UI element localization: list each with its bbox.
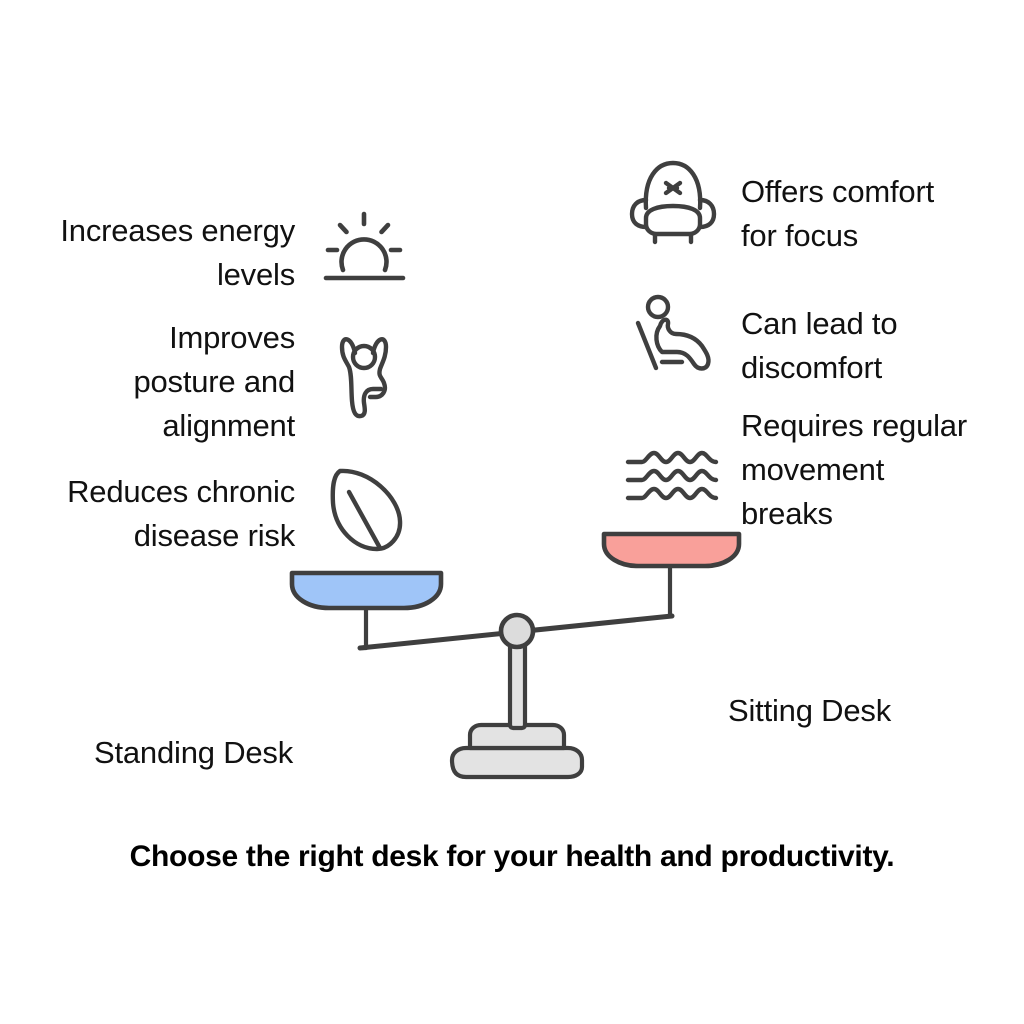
- sunrise-icon: [318, 206, 410, 290]
- scale-pivot: [501, 615, 533, 647]
- infographic-canvas: Increases energy levels Improves posture…: [0, 0, 1024, 1024]
- note-discomfort-line-2: discomfort: [741, 346, 1001, 390]
- stretching-person-icon: [336, 331, 402, 423]
- note-comfort-line-2: for focus: [741, 214, 1001, 258]
- scale-pan-sitting: [604, 534, 739, 566]
- armchair-icon: [627, 156, 719, 244]
- note-item-comfort: Offers comfort for focus: [741, 170, 1001, 258]
- benefit-posture-line-1: Improves: [60, 316, 295, 360]
- benefit-item-posture: Improves posture and alignment: [60, 316, 295, 448]
- waves-icon: [624, 448, 720, 510]
- scale-base-lower: [452, 748, 582, 777]
- note-breaks-line-1: Requires regular: [741, 404, 1016, 448]
- benefit-posture-line-2: posture and: [60, 360, 295, 404]
- label-sitting-desk: Sitting Desk: [728, 693, 891, 729]
- leaf-icon: [327, 459, 411, 559]
- benefit-posture-line-3: alignment: [60, 404, 295, 448]
- benefit-energy-line-2: levels: [10, 253, 295, 297]
- benefit-item-energy: Increases energy levels: [10, 209, 295, 297]
- benefit-energy-line-1: Increases energy: [10, 209, 295, 253]
- note-breaks-line-3: breaks: [741, 492, 1016, 536]
- scale-pan-standing: [292, 573, 441, 608]
- scale-base-upper: [470, 725, 564, 748]
- note-discomfort-line-1: Can lead to: [741, 302, 1001, 346]
- caption: Choose the right desk for your health an…: [0, 840, 1024, 874]
- label-standing-desk: Standing Desk: [94, 735, 293, 771]
- note-comfort-line-1: Offers comfort: [741, 170, 1001, 214]
- seated-person-icon: [632, 294, 720, 376]
- scale-hanger-left: [362, 600, 366, 648]
- scale-post: [510, 636, 525, 728]
- note-breaks-line-2: movement: [741, 448, 1016, 492]
- benefit-disease-line-2: disease risk: [10, 514, 295, 558]
- scale-beam: [360, 616, 672, 648]
- note-item-movement-breaks: Requires regular movement breaks: [741, 404, 1016, 536]
- note-item-discomfort: Can lead to discomfort: [741, 302, 1001, 390]
- benefit-disease-line-1: Reduces chronic: [10, 470, 295, 514]
- benefit-item-disease-risk: Reduces chronic disease risk: [10, 470, 295, 558]
